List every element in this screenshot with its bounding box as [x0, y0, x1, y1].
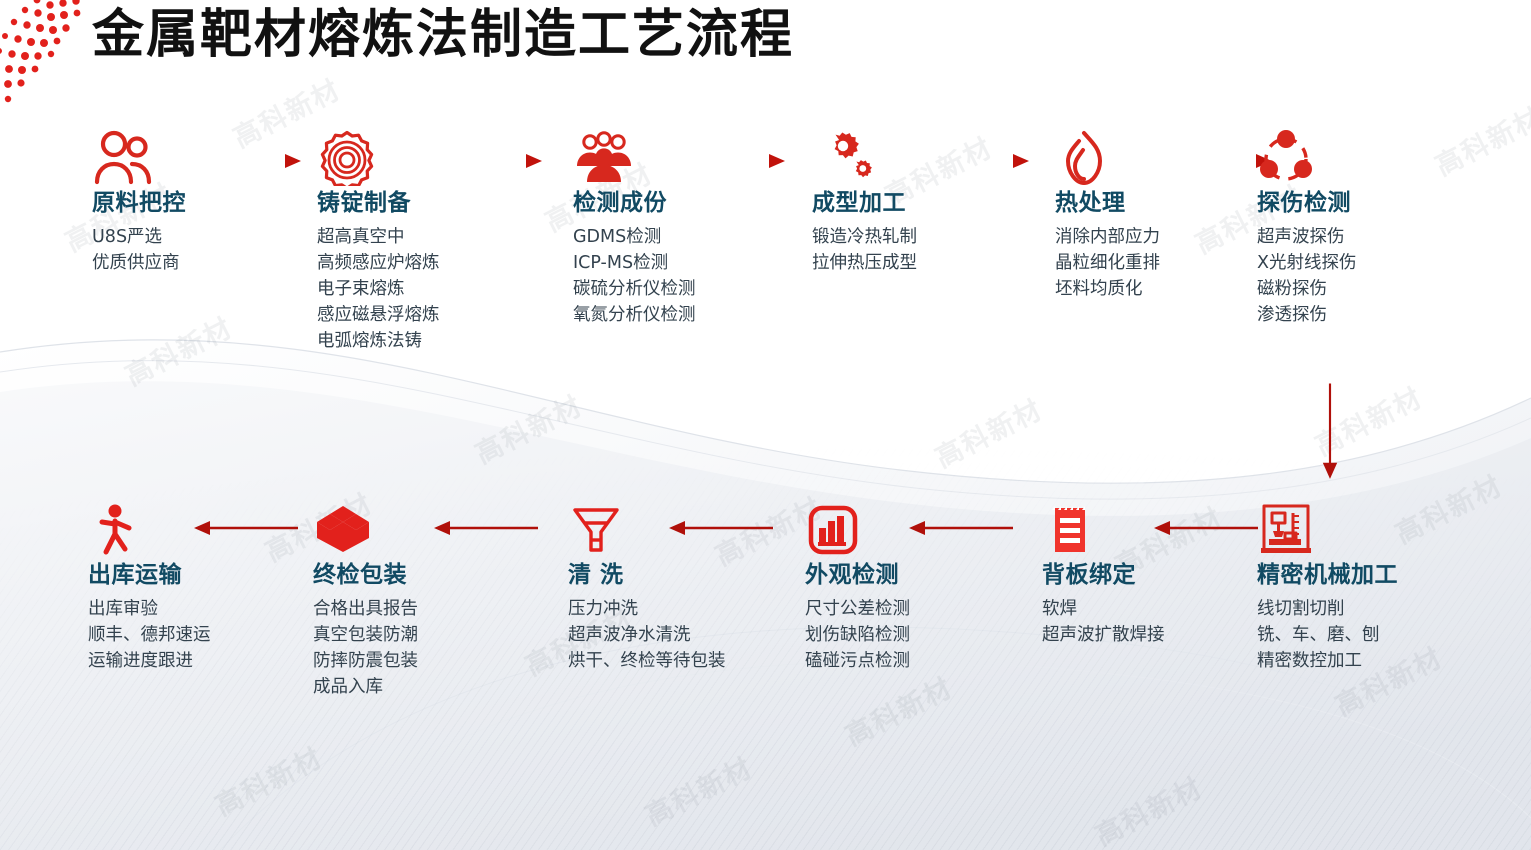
step-detail-list: 合格出具报告 真空包装防潮 防摔防震包装 成品入库 [313, 596, 463, 700]
list-item: 线切割切削 [1257, 596, 1407, 622]
list-item: ICP-MS检测 [573, 250, 735, 276]
list-item: 消除内部应力 [1055, 224, 1205, 250]
step-detail-list: 出库审验 顺丰、德邦速运 运输进度跟进 [88, 596, 238, 674]
cnc-machine-icon [1257, 502, 1407, 560]
people-group-icon [573, 130, 735, 188]
watermark: 高科新材 [1087, 766, 1208, 850]
step-detail-list: U8S严选 优质供应商 [92, 224, 242, 276]
step-detail-list: 消除内部应力 晶粒细化重排 坯料均质化 [1055, 224, 1205, 302]
step-detail-list: 尺寸公差检测 划伤缺陷检测 磕碰污点检测 [805, 596, 955, 674]
flow-step-precision-machining[interactable]: 精密机械加工 线切割切削 铣、车、磨、刨 精密数控加工 [1257, 502, 1407, 674]
step-heading: 外观检测 [805, 560, 955, 590]
watermark: 高科新材 [837, 666, 958, 753]
list-item: 成品入库 [313, 674, 463, 700]
list-item: 精密数控加工 [1257, 648, 1407, 674]
step-heading: 精密机械加工 [1257, 560, 1407, 590]
step-heading: 出库运输 [88, 560, 238, 590]
step-heading: 探伤检测 [1257, 188, 1407, 218]
flow-step-backplate-bonding[interactable]: 背板绑定 软焊 超声波扩散焊接 [1042, 502, 1192, 648]
list-item: 磁粉探伤 [1257, 276, 1407, 302]
list-item: GDMS检测 [573, 224, 735, 250]
watermark: 高科新材 [637, 746, 758, 833]
watermark: 高科新材 [117, 306, 238, 393]
list-item: 感应磁悬浮熔炼 [317, 302, 479, 328]
flow-step-appearance-inspection[interactable]: 外观检测 尺寸公差检测 划伤缺陷检测 磕碰污点检测 [805, 502, 955, 674]
step-detail-list: GDMS检测 ICP-MS检测 碳硫分析仪检测 氧氮分析仪检测 [573, 224, 735, 328]
flow-step-outbound-shipping[interactable]: 出库运输 出库审验 顺丰、德邦速运 运输进度跟进 [88, 502, 238, 674]
watermark: 高科新材 [927, 388, 1048, 475]
open-box-icon [313, 502, 463, 560]
step-heading: 铸锭制备 [317, 188, 479, 218]
step-heading: 原料把控 [92, 188, 242, 218]
list-item: 软焊 [1042, 596, 1192, 622]
list-item: 超声波净水清洗 [568, 622, 730, 648]
two-people-icon [92, 130, 242, 188]
list-item: 磕碰污点检测 [805, 648, 955, 674]
watermark: 高科新材 [207, 736, 328, 823]
funnel-icon [568, 502, 730, 560]
bonding-layers-icon [1042, 502, 1192, 560]
flowchart-canvas: 高科新材 高科新材 高科新材 高科新材 高科新材 高科新材 高科新材 高科新材 … [0, 0, 1531, 850]
list-item: 出库审验 [88, 596, 238, 622]
step-detail-list: 超声波探伤 X光射线探伤 磁粉探伤 渗透探伤 [1257, 224, 1407, 328]
step-heading: 检测成份 [573, 188, 735, 218]
step-detail-list: 压力冲洗 超声波净水清洗 烘干、终检等待包装 [568, 596, 730, 674]
page-title: 金属靶材熔炼法制造工艺流程 [92, 4, 794, 66]
list-item: 超声波探伤 [1257, 224, 1407, 250]
background-swoosh [0, 0, 1531, 850]
list-item: 合格出具报告 [313, 596, 463, 622]
list-item: 拉伸热压成型 [812, 250, 962, 276]
flow-step-flaw-detection[interactable]: 探伤检测 超声波探伤 X光射线探伤 磁粉探伤 渗透探伤 [1257, 130, 1407, 328]
list-item: 晶粒细化重排 [1055, 250, 1205, 276]
list-item: U8S严选 [92, 224, 242, 250]
step-heading: 热处理 [1055, 188, 1205, 218]
list-item: 氧氮分析仪检测 [573, 302, 735, 328]
list-item: 电弧熔炼法铸 [317, 328, 479, 354]
two-gears-icon [812, 130, 962, 188]
flow-step-heat-treatment[interactable]: 热处理 消除内部应力 晶粒细化重排 坯料均质化 [1055, 130, 1205, 302]
list-item: 超高真空中 [317, 224, 479, 250]
list-item: 运输进度跟进 [88, 648, 238, 674]
step-heading: 清 洗 [568, 560, 730, 590]
step-heading: 成型加工 [812, 188, 962, 218]
list-item: 尺寸公差检测 [805, 596, 955, 622]
flow-step-raw-material-control[interactable]: 原料把控 U8S严选 优质供应商 [92, 130, 242, 276]
list-item: 电子束熔炼 [317, 276, 479, 302]
step-detail-list: 软焊 超声波扩散焊接 [1042, 596, 1192, 648]
flow-step-composition-testing[interactable]: 检测成份 GDMS检测 ICP-MS检测 碳硫分析仪检测 氧氮分析仪检测 [573, 130, 735, 328]
list-item: 划伤缺陷检测 [805, 622, 955, 648]
watermark: 高科新材 [1427, 96, 1531, 183]
list-item: 坯料均质化 [1055, 276, 1205, 302]
list-item: 真空包装防潮 [313, 622, 463, 648]
flow-step-cleaning[interactable]: 清 洗 压力冲洗 超声波净水清洗 烘干、终检等待包装 [568, 502, 730, 674]
flow-step-final-inspection-packaging[interactable]: 终检包装 合格出具报告 真空包装防潮 防摔防震包装 成品入库 [313, 502, 463, 700]
list-item: 高频感应炉熔炼 [317, 250, 479, 276]
gear-target-icon [317, 130, 479, 188]
list-item: X光射线探伤 [1257, 250, 1407, 276]
step-heading: 背板绑定 [1042, 560, 1192, 590]
step-detail-list: 超高真空中 高频感应炉熔炼 电子束熔炼 感应磁悬浮熔炼 电弧熔炼法铸 [317, 224, 479, 354]
list-item: 压力冲洗 [568, 596, 730, 622]
walking-person-icon [88, 502, 238, 560]
three-node-triangle-icon [1257, 130, 1407, 188]
flame-icon [1055, 130, 1205, 188]
step-detail-list: 线切割切削 铣、车、磨、刨 精密数控加工 [1257, 596, 1407, 674]
list-item: 锻造冷热轧制 [812, 224, 962, 250]
list-item: 铣、车、磨、刨 [1257, 622, 1407, 648]
flow-step-ingot-preparation[interactable]: 铸锭制备 超高真空中 高频感应炉熔炼 电子束熔炼 感应磁悬浮熔炼 电弧熔炼法铸 [317, 130, 479, 354]
list-item: 烘干、终检等待包装 [568, 648, 730, 674]
step-detail-list: 锻造冷热轧制 拉伸热压成型 [812, 224, 962, 276]
list-item: 碳硫分析仪检测 [573, 276, 735, 302]
flow-step-forming-processing[interactable]: 成型加工 锻造冷热轧制 拉伸热压成型 [812, 130, 962, 276]
list-item: 顺丰、德邦速运 [88, 622, 238, 648]
list-item: 优质供应商 [92, 250, 242, 276]
list-item: 超声波扩散焊接 [1042, 622, 1192, 648]
list-item: 防摔防震包装 [313, 648, 463, 674]
flow-arrow-down [1321, 378, 1339, 488]
list-item: 渗透探伤 [1257, 302, 1407, 328]
watermark: 高科新材 [467, 384, 588, 471]
factory-inspect-icon [805, 502, 955, 560]
step-heading: 终检包装 [313, 560, 463, 590]
